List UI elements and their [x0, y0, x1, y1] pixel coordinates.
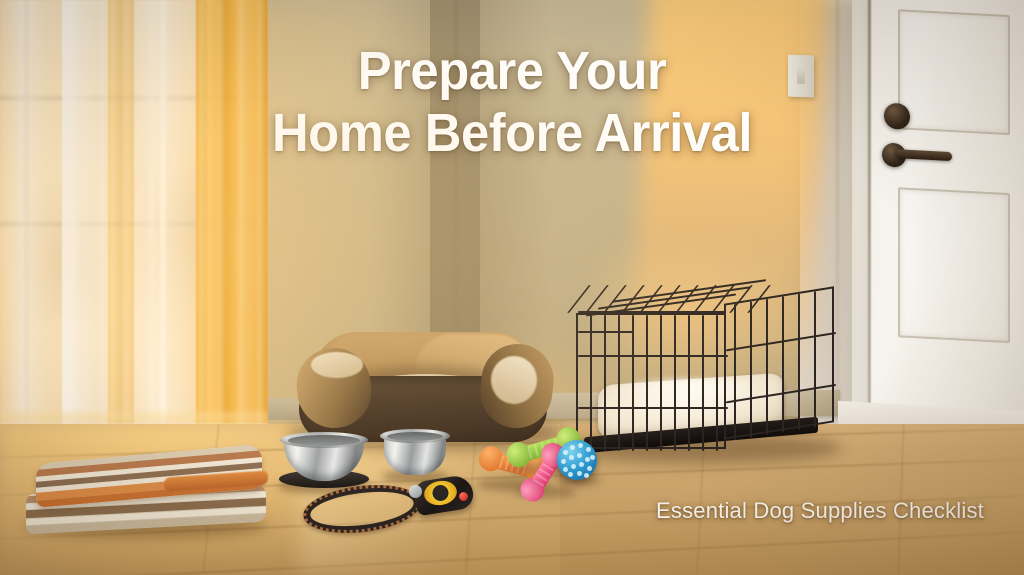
leash-metal-clip-icon — [409, 485, 422, 498]
dog-bed-left-rim — [311, 352, 363, 378]
door-panel-bottom — [898, 187, 1010, 343]
crate-front-door[interactable] — [576, 313, 726, 449]
toy-ball-blue — [557, 440, 597, 480]
dog-bed-right-rim — [491, 356, 537, 404]
subtitle: Essential Dog Supplies Checklist — [0, 498, 984, 524]
title-line-2: Home Before Arrival — [31, 102, 994, 164]
banner-image: Prepare Your Home Before Arrival Essenti… — [0, 0, 1024, 575]
crate-side-panel — [724, 286, 834, 439]
water-bowl-interior — [387, 432, 443, 441]
dog-crate — [576, 285, 836, 460]
page-title: Prepare Your Home Before Arrival — [31, 40, 994, 164]
crate-latch-bar — [578, 331, 634, 333]
food-bowl-interior — [288, 435, 360, 446]
title-line-1: Prepare Your — [31, 40, 994, 102]
